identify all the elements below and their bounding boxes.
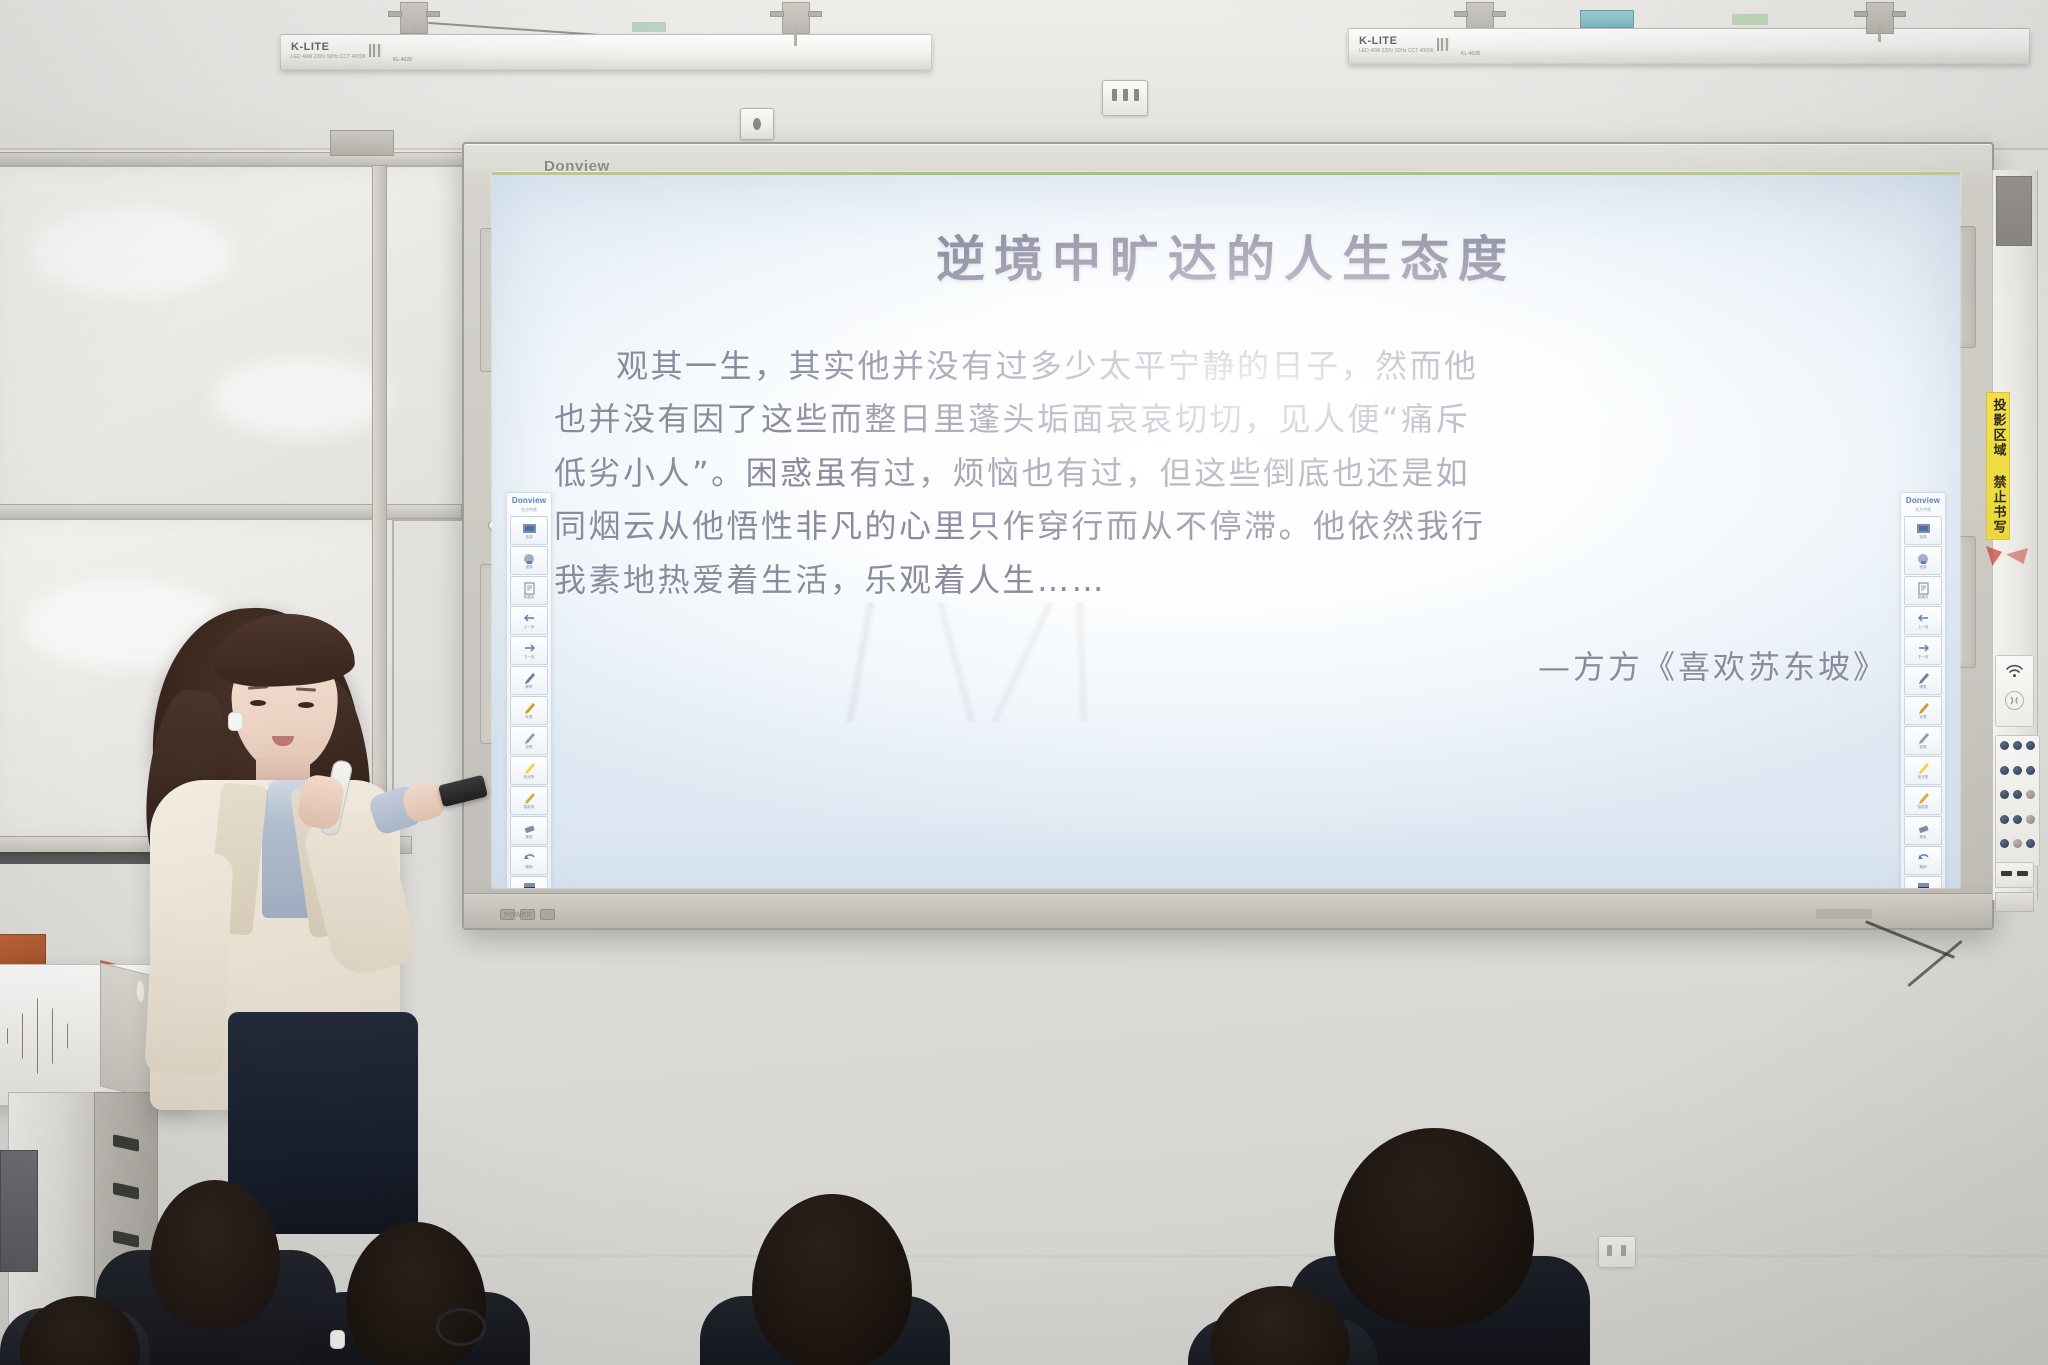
toolbar-item-label: 下一页 <box>1918 656 1929 660</box>
toolbar-item-label: 荧光笔 <box>524 776 535 780</box>
toolbar-item-label: 上一页 <box>524 626 535 630</box>
projection-screen[interactable]: 逆境中旷达的人生态度 观其一生，其实他并没有过多少太平宁静的日子，然而他 也并没… <box>492 172 1960 888</box>
toolbar-item-curtain[interactable]: 幕布 <box>1904 876 1942 888</box>
toolbar-item-eraser[interactable]: 橡皮 <box>510 816 548 845</box>
podium-equipment-panel[interactable] <box>0 1150 38 1272</box>
hand-icon <box>522 552 537 565</box>
screen-accent-line <box>492 172 1960 175</box>
slide-body-text: 观其一生，其实他并没有过多少太平宁静的日子，然而他 也并没有因了这些而整日里蓬头… <box>554 340 1920 607</box>
light-brand-label: K-LITE <box>291 41 329 53</box>
toolbar-logo-sub: 东方中原 <box>1915 507 1931 513</box>
toolbar-item-label: 撤销 <box>525 866 532 870</box>
toolbar-logo: Donview <box>1906 496 1940 505</box>
toolbar-item-hand[interactable]: 漫游 <box>510 546 548 575</box>
arrow-right-icon <box>522 642 537 655</box>
slide-body-line: 观其一生，其实他并没有过多少太平宁静的日子，然而他 <box>554 340 1920 393</box>
toolbar-item-highlighter[interactable]: 荧光笔 <box>1904 756 1942 785</box>
slide-body-line: 低劣小人”。困惑虽有过，烦恼也有过，但这些倒底也还是如 <box>554 447 1920 500</box>
toolbar-item-hand[interactable]: 漫游 <box>1904 546 1942 575</box>
whiteboard-power-label: POWER <box>504 912 532 919</box>
wall-panel-key[interactable] <box>2000 815 2009 824</box>
nfc-icon <box>2004 690 2025 711</box>
toolbar-logo: Donview <box>512 496 546 505</box>
qr-code-icon <box>1437 38 1450 51</box>
wall-panel-key[interactable] <box>2026 815 2035 824</box>
curtain-icon <box>522 882 537 888</box>
new-page-icon <box>522 582 537 595</box>
toolbar-item-arrow-right[interactable]: 下一页 <box>1904 636 1942 665</box>
wall-panel-reader[interactable] <box>1995 655 2034 727</box>
wall-panel-footer-strip <box>1995 892 2034 912</box>
slide-attribution: —方方《喜欢苏东坡》 <box>1538 642 1888 688</box>
wall-panel-key[interactable] <box>2013 766 2022 775</box>
toolbar-item-label: 荧光笔 <box>1918 776 1929 780</box>
toolbar-item-label: 上一页 <box>1918 626 1929 630</box>
smart-pen-icon <box>522 792 537 805</box>
toolbar-item-undo[interactable]: 撤销 <box>1904 846 1942 875</box>
wall-panel-key[interactable] <box>2013 741 2022 750</box>
control-column-dark-inset <box>1996 176 2032 246</box>
wall-panel-ports[interactable] <box>1995 862 2034 888</box>
toolbar-item-pencil[interactable]: 铅笔 <box>1904 726 1942 755</box>
glasses <box>436 1308 486 1346</box>
hand-icon <box>1916 552 1931 565</box>
arrow-right-icon <box>1916 642 1931 655</box>
toolbar-item-new-page[interactable]: 新建页 <box>1904 576 1942 605</box>
pen-icon <box>1916 672 1931 685</box>
brush-icon <box>522 702 537 715</box>
light-brand-label: K-LITE <box>1359 35 1397 47</box>
toolbar-item-smart-pen[interactable]: 智能笔 <box>1904 786 1942 815</box>
wall-panel-key[interactable] <box>2000 839 2009 848</box>
wall-panel-key[interactable] <box>2013 815 2022 824</box>
slide-title: 逆境中旷达的人生态度 <box>492 220 1960 291</box>
wifi-icon <box>2005 664 2024 678</box>
wall-panel-key[interactable] <box>2026 839 2035 848</box>
toolbar-item-label: 硬笔 <box>1919 686 1926 690</box>
ceiling-light-fixture: K-LITE LED 40W 220V 50Hz CCT 4000K KL-40… <box>280 34 932 70</box>
undo-icon <box>522 852 537 865</box>
wall-panel-key[interactable] <box>2026 790 2035 799</box>
toolbar-item-label: 智能笔 <box>524 806 535 810</box>
light-model-code: KL-4028 <box>1461 51 1480 57</box>
toolbar-item-label: 硬笔 <box>525 686 532 690</box>
toolbar-item-select[interactable]: 选择 <box>510 516 548 545</box>
toolbar-item-label: 铅笔 <box>525 746 532 750</box>
toolbar-item-label: 漫游 <box>525 566 532 570</box>
slide-body-line: 也并没有因了这些而整日里蓬头垢面哀哀切切，见人便“痛斥 <box>554 393 1920 446</box>
wall-panel-keypad[interactable] <box>1995 735 2040 867</box>
toolbar-item-label: 下一页 <box>524 656 535 660</box>
toolbar-item-smart-pen[interactable]: 智能笔 <box>510 786 548 815</box>
green-ceiling-marker <box>1732 14 1768 25</box>
curtain-icon <box>1916 882 1931 888</box>
undo-icon <box>1916 852 1931 865</box>
pencil-icon <box>522 732 537 745</box>
qr-code-icon <box>369 44 382 57</box>
highlighter-icon <box>1916 762 1931 775</box>
wall-panel-key[interactable] <box>2013 839 2022 848</box>
highlighter-icon <box>522 762 537 775</box>
toolbar-item-label: 选择 <box>1919 536 1926 540</box>
eraser-icon <box>522 822 537 835</box>
toolbar-item-brush[interactable]: 毛笔 <box>510 696 548 725</box>
toolbar-item-undo[interactable]: 撤销 <box>510 846 548 875</box>
toolbar-item-pencil[interactable]: 铅笔 <box>510 726 548 755</box>
toolbar-item-label: 橡皮 <box>525 836 532 840</box>
light-mount-stem <box>794 28 797 46</box>
toolbar-item-label: 漫游 <box>1919 566 1926 570</box>
slide-body-line: 同烟云从他悟性非凡的心里只作穿行而从不停滞。他依然我行 <box>554 500 1920 553</box>
brush-icon <box>1916 702 1931 715</box>
toolbar-item-arrow-right[interactable]: 下一页 <box>510 636 548 665</box>
select-icon <box>522 522 537 535</box>
toolbar-item-label: 选择 <box>525 536 532 540</box>
toolbar-item-label: 新建页 <box>524 596 535 600</box>
teal-ceiling-marker <box>1580 10 1634 28</box>
toolbar-item-label: 毛笔 <box>525 716 532 720</box>
toolbar-item-label: 橡皮 <box>1919 836 1926 840</box>
light-mount-stem <box>1878 26 1881 42</box>
toolbar-item-arrow-left[interactable]: 上一页 <box>1904 606 1942 635</box>
arm-left <box>144 850 234 1076</box>
classroom-photo: K-LITE LED 40W 220V 50Hz CCT 4000K KL-40… <box>0 0 2048 1365</box>
toolbar-item-curtain[interactable]: 幕布 <box>510 876 548 888</box>
whiteboard-vent <box>1816 909 1872 919</box>
wall-panel-key[interactable] <box>2026 741 2035 750</box>
sliding-chalkboard-upper[interactable] <box>0 165 464 521</box>
light-spec-text: LED 40W 220V 50Hz CCT 4000K <box>291 54 366 60</box>
whiteboard-toolbar-right[interactable]: Donview 东方中原 选择漫游新建页上一页下一页硬笔毛笔铅笔荧光笔智能笔橡皮… <box>1900 492 1946 888</box>
toolbar-logo-sub: 东方中原 <box>521 507 537 513</box>
eye <box>250 700 266 706</box>
wall-panel-key[interactable] <box>2000 790 2009 799</box>
wall-panel-key[interactable] <box>2013 790 2022 799</box>
toolbar-item-eraser[interactable]: 橡皮 <box>1904 816 1942 845</box>
green-ceiling-marker <box>632 22 666 32</box>
slide-body-line: 我素地热爱着生活，乐观着人生…… <box>554 554 1920 607</box>
toolbar-item-new-page[interactable]: 新建页 <box>510 576 548 605</box>
chalkboard-track-bracket <box>330 130 394 156</box>
ceiling-light-fixture: K-LITE LED 40W 220V 50Hz CCT 4000K KL-40… <box>1348 28 2030 64</box>
wall-panel-key[interactable] <box>2000 741 2009 750</box>
select-icon <box>1916 522 1931 535</box>
wall-panel-key[interactable] <box>2026 766 2035 775</box>
power-outlet-lower[interactable] <box>1598 1236 1636 1268</box>
toolbar-item-label: 撤销 <box>1919 866 1926 870</box>
toolbar-item-label: 新建页 <box>1918 596 1929 600</box>
toolbar-item-highlighter[interactable]: 荧光笔 <box>510 756 548 785</box>
eraser-icon <box>1916 822 1931 835</box>
toolbar-item-pen[interactable]: 硬笔 <box>510 666 548 695</box>
arrow-left-icon <box>1916 612 1931 625</box>
toolbar-item-pen[interactable]: 硬笔 <box>1904 666 1942 695</box>
toolbar-item-label: 铅笔 <box>1919 746 1926 750</box>
toolbar-item-arrow-left[interactable]: 上一页 <box>510 606 548 635</box>
toolbar-item-select[interactable]: 选择 <box>1904 516 1942 545</box>
chalk-residue-marks <box>672 602 1292 722</box>
new-page-icon <box>1916 582 1931 595</box>
eye <box>298 702 314 708</box>
pen-icon <box>522 672 537 685</box>
light-spec-text: LED 40W 220V 50Hz CCT 4000K <box>1359 48 1434 54</box>
earphone <box>330 1330 345 1349</box>
toolbar-item-label: 智能笔 <box>1918 806 1929 810</box>
earphone <box>228 712 243 731</box>
arrow-left-icon <box>522 612 537 625</box>
whiteboard-button[interactable] <box>540 909 555 920</box>
power-outlet[interactable] <box>1102 80 1148 116</box>
chalkboard-mid-frame <box>0 504 462 519</box>
toolbar-item-brush[interactable]: 毛笔 <box>1904 696 1942 725</box>
wall-panel-key[interactable] <box>2000 766 2009 775</box>
projection-warning-label: 投影区域 禁止书写 <box>1986 392 2010 540</box>
whiteboard-toolbar-left[interactable]: Donview 东方中原 选择漫游新建页上一页下一页硬笔毛笔铅笔荧光笔智能笔橡皮… <box>506 492 552 888</box>
junction-box <box>740 108 774 140</box>
toolbar-item-label: 毛笔 <box>1919 716 1926 720</box>
light-model-code: KL-4028 <box>393 57 412 63</box>
whiteboard-bottom-bezel: POWER <box>464 893 1992 928</box>
pencil-icon <box>1916 732 1931 745</box>
smart-pen-icon <box>1916 792 1931 805</box>
chalkboard-right-rail <box>372 165 387 841</box>
